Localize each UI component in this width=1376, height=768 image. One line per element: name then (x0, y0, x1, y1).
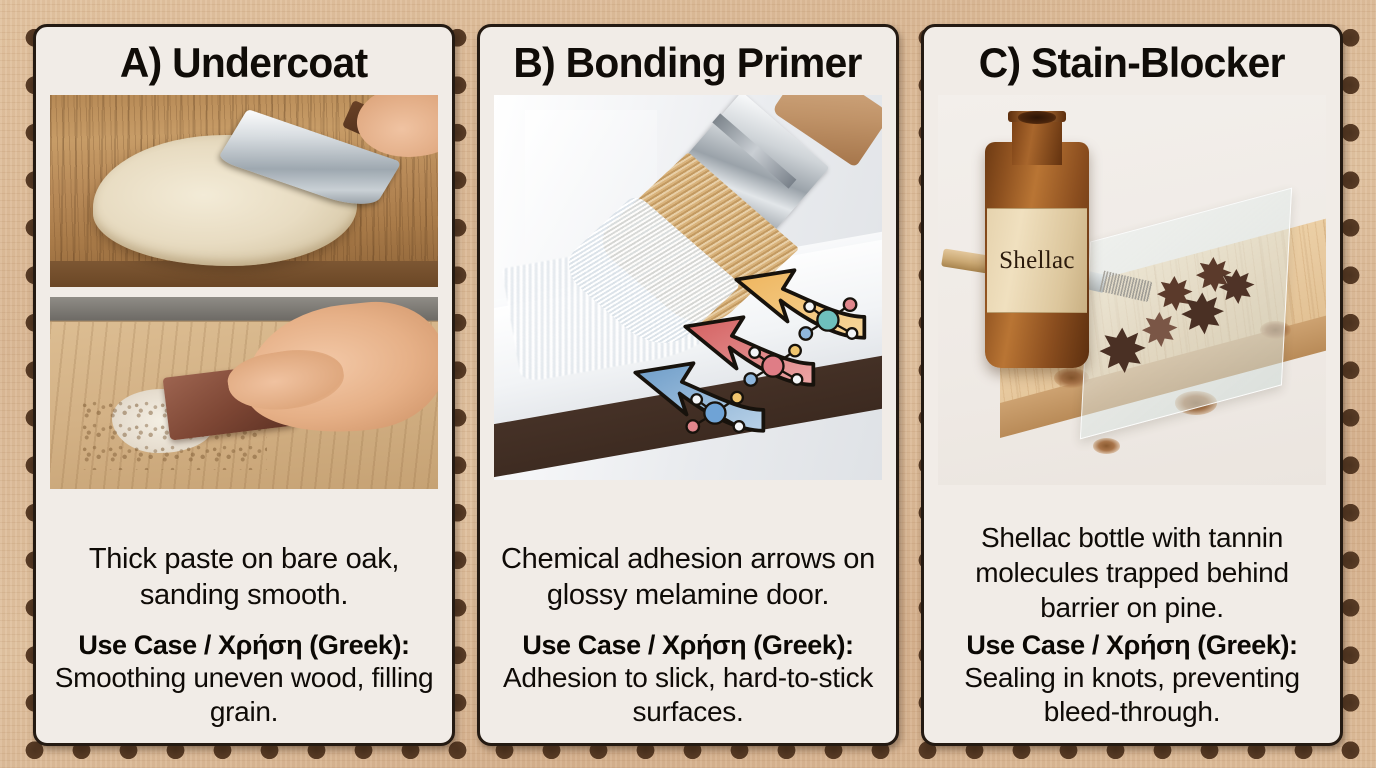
bonding-primer-illustration (494, 95, 882, 480)
sanding-photo (50, 297, 438, 489)
caption-block-c: Shellac bottle with tannin molecules tra… (938, 520, 1326, 733)
usecase-label-c: Use Case / Χρήση (Greek): (938, 630, 1326, 661)
usecase-text-a: Smoothing uneven wood, filling grain. (50, 661, 438, 729)
panel-description-a: Thick paste on bare oak, sanding smooth. (50, 541, 438, 614)
caption-block-a: Thick paste on bare oak, sanding smooth.… (50, 541, 438, 733)
panel-title-b: B) Bonding Primer (514, 39, 862, 86)
usecase-label-a: Use Case / Χρήση (Greek): (50, 630, 438, 661)
wood-knot (1093, 438, 1120, 454)
media-stack-a (50, 95, 438, 489)
tannin-blotch (1140, 310, 1179, 349)
panel-title-c: C) Stain-Blocker (979, 39, 1285, 86)
panel-bonding-primer[interactable]: B) Bonding Primer (477, 24, 899, 746)
tannin-blotch (1217, 267, 1256, 306)
bottle-label: Shellac (987, 208, 1088, 313)
filler-paste-photo (50, 95, 438, 287)
usecase-text-b: Adhesion to slick, hard-to-stick surface… (494, 661, 882, 729)
panel-undercoat[interactable]: A) Undercoat Thick pas (33, 24, 455, 746)
molecule-blue (680, 388, 750, 442)
usecase-label-b: Use Case / Χρήση (Greek): (494, 630, 882, 661)
panel-description-c: Shellac bottle with tannin molecules tra… (938, 520, 1326, 626)
media-stack-c: Shellac (938, 95, 1326, 485)
comparison-panel-row: A) Undercoat Thick pas (0, 0, 1376, 768)
media-stack-b (494, 95, 882, 480)
stain-blocker-illustration: Shellac (938, 95, 1326, 485)
panel-stain-blocker[interactable]: C) Stain-Blocker (921, 24, 1343, 746)
bottle-label-text: Shellac (999, 247, 1075, 275)
caption-block-b: Chemical adhesion arrows on glossy melam… (494, 541, 882, 733)
bottle-mouth (1018, 111, 1057, 123)
usecase-text-c: Sealing in knots, preventing bleed-throu… (938, 661, 1326, 729)
panel-title-a: A) Undercoat (120, 39, 368, 86)
panel-description-b: Chemical adhesion arrows on glossy melam… (494, 541, 882, 614)
